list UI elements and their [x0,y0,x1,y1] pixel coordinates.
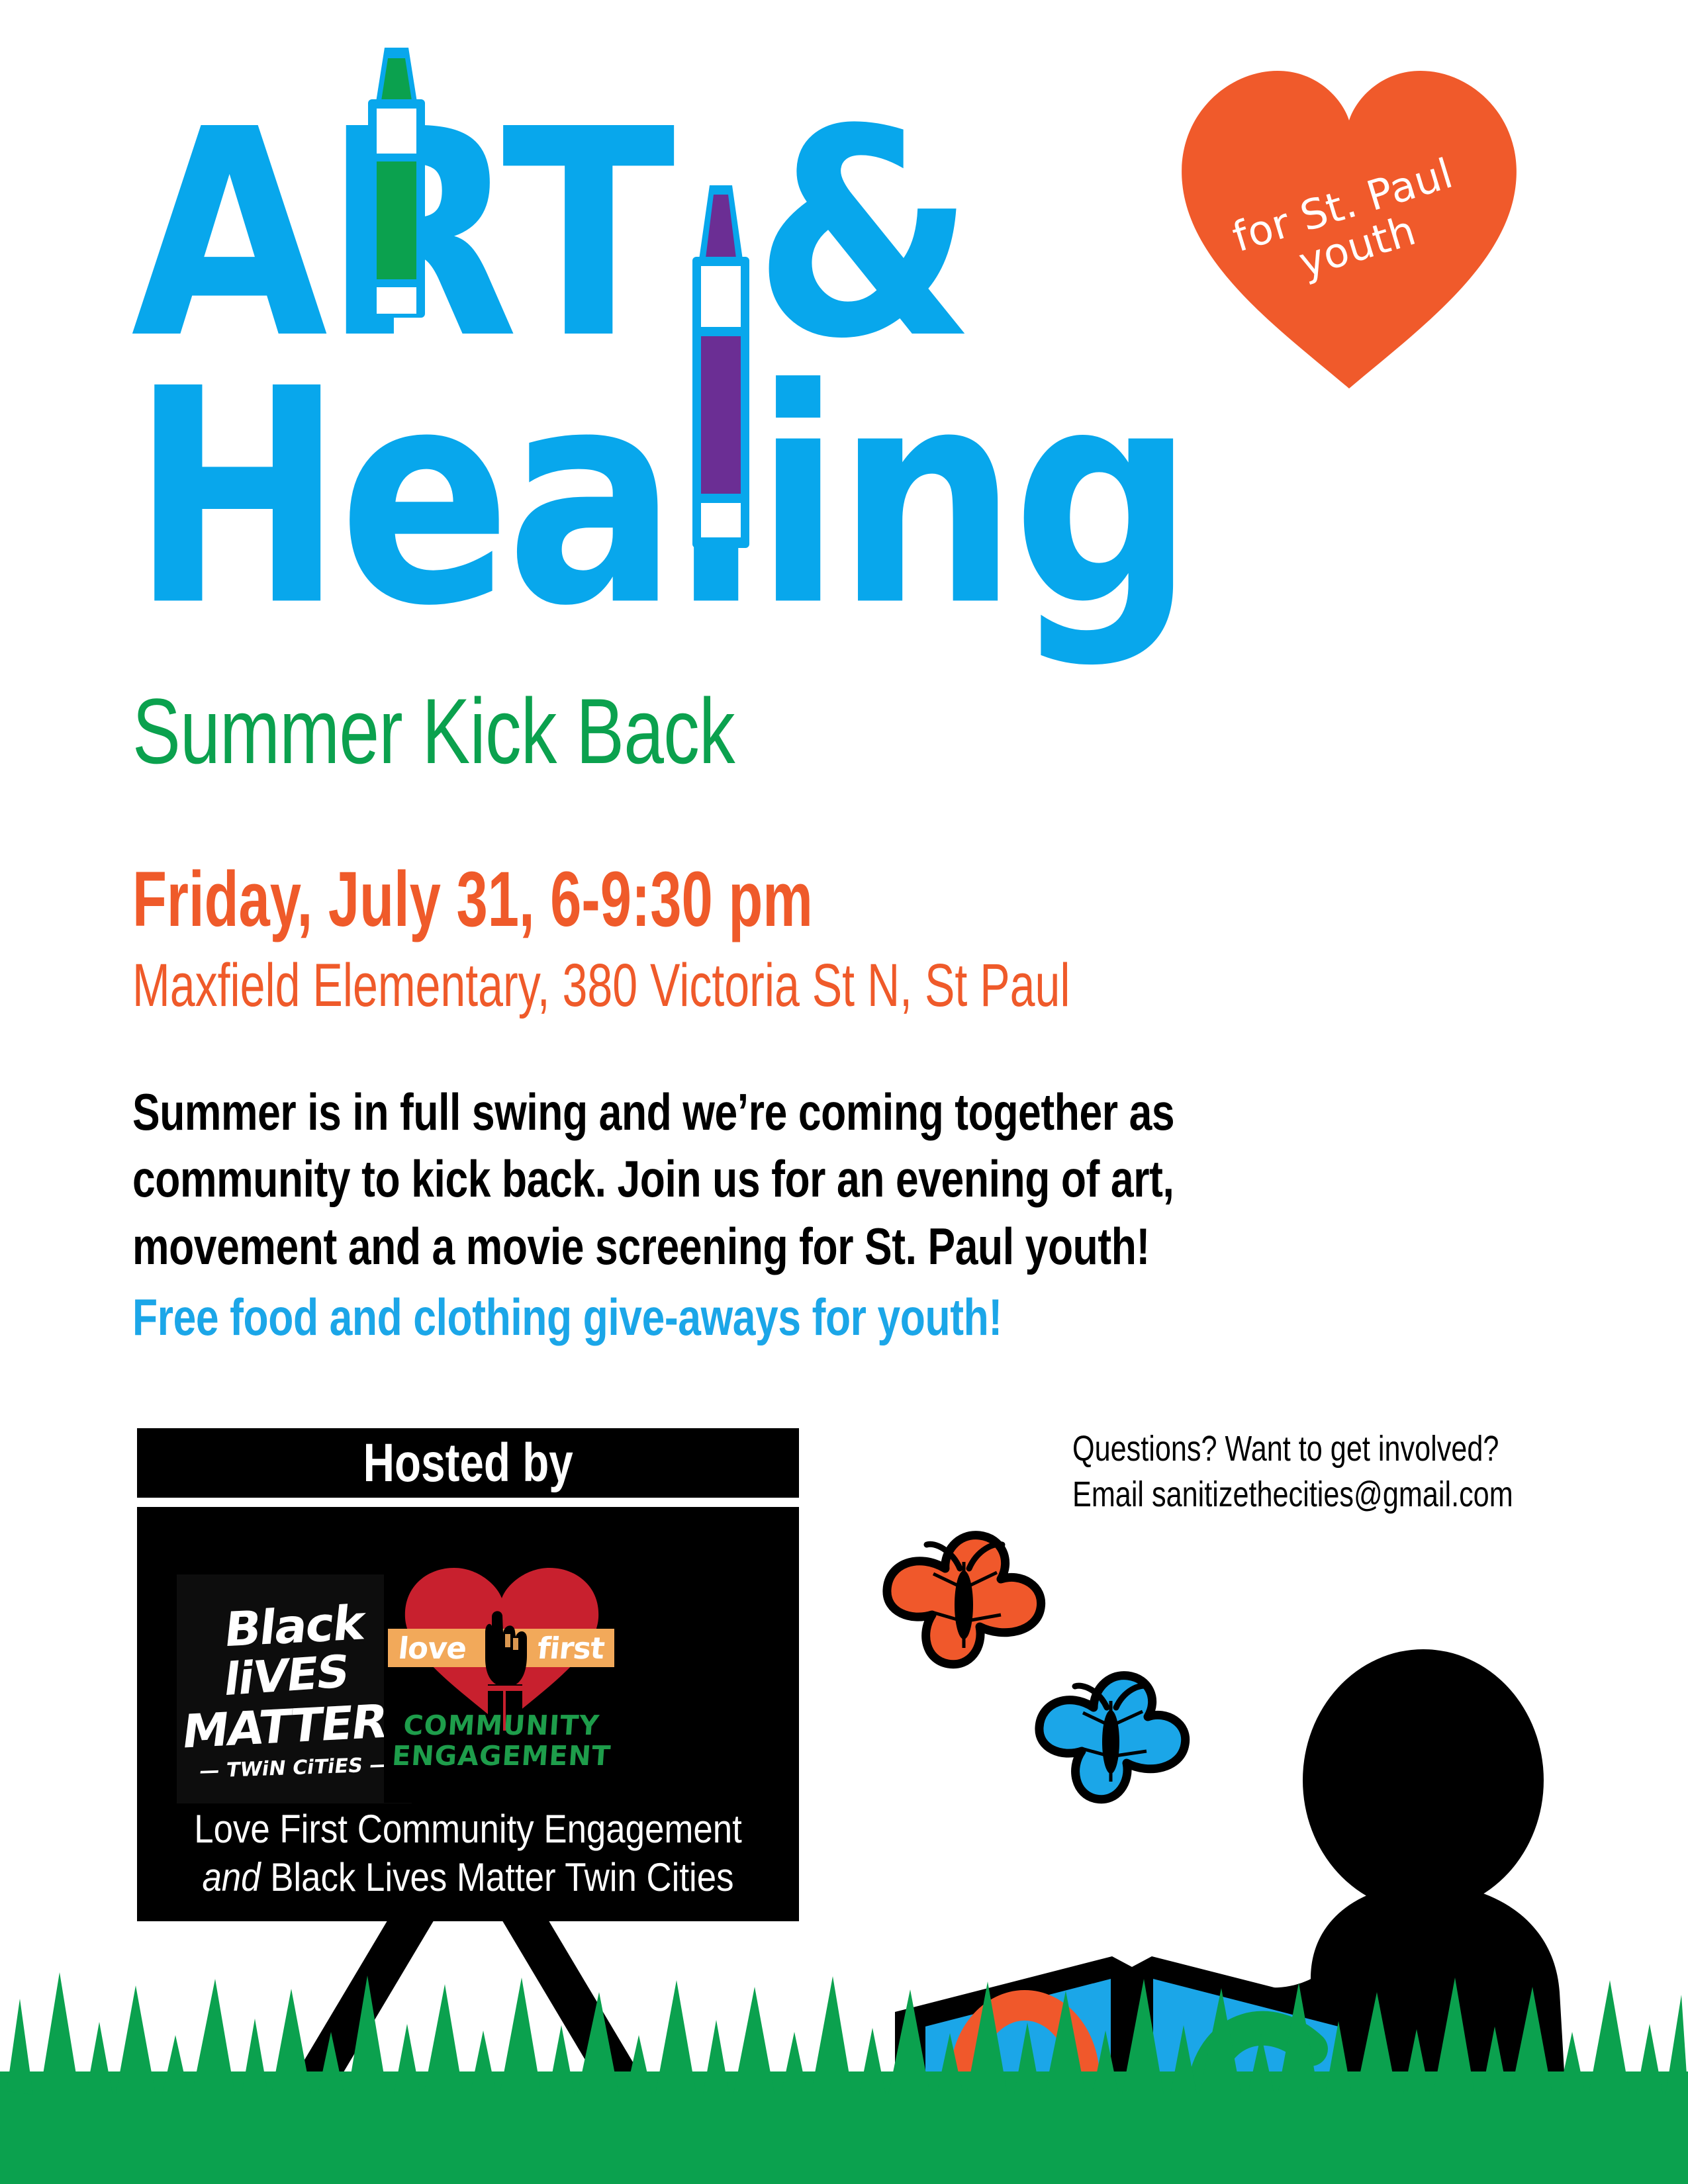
sign-header: Hosted by [137,1428,799,1498]
love-first-word-2: first [536,1633,605,1663]
logo-row: Black liVES MATTER! — TWiN CiTiES — love… [150,1523,786,1801]
sign-body: Black liVES MATTER! — TWiN CiTiES — love… [137,1507,799,1921]
event-date: Friday, July 31, 6-9:30 pm [132,860,813,938]
blm-line-3: MATTER! [179,1698,408,1754]
sign-caption-line-1: Love First Community Engagement [189,1805,748,1853]
flyer-page: for St. Paul youth ART & Healing [0,0,1688,2184]
grass-band [0,1972,1688,2184]
body-free-line: Free food and clothing give-aways for yo… [132,1284,1223,1351]
body-line-3: movement and a movie screening for St. P… [132,1213,1223,1280]
sign-caption-rest: Black Lives Matter Twin Cities [261,1855,734,1899]
love-first-tagline-2: ENGAGEMENT [383,1741,620,1772]
love-first-tagline-1: COMMUNITY [383,1711,620,1741]
contact-line-1: Questions? Want to get involved? [1072,1426,1496,1472]
blue-butterfly-icon [1039,1676,1186,1799]
love-first-logo: love first COMMUNITY ENGAGEMENT [384,1555,619,1803]
purple-crayon-icon [678,185,764,556]
love-first-word-1: love [397,1633,468,1663]
blm-line-1: Black [222,1600,366,1653]
body-line-2: community to kick back. Join us for an e… [132,1146,1223,1212]
sign-caption-line-2: and Black Lives Matter Twin Cities [189,1853,748,1901]
hosted-by-sign: Hosted by Black liVES MATTER! — TWiN CiT… [137,1428,799,1921]
sign-caption-and: and [202,1855,260,1899]
blm-line-2: liVES [222,1651,351,1702]
body-line-1: Summer is in full swing and we’re coming… [132,1079,1223,1146]
title-block: ART & Healing [131,93,1223,728]
body-copy: Summer is in full swing and we’re coming… [132,1079,1496,1351]
blm-line-4: — TWiN CiTiES — [198,1756,391,1782]
sign-caption: Love First Community Engagement and Blac… [150,1805,786,1901]
green-crayon-icon [353,48,440,332]
event-location: Maxfield Elementary, 380 Victoria St N, … [132,955,1070,1016]
love-first-tagline: COMMUNITY ENGAGEMENT [384,1711,619,1772]
subtitle: Summer Kick Back [132,685,735,778]
title-line-healing: Healing [131,351,1190,647]
orange-butterfly-icon [887,1535,1041,1664]
blm-logo: Black liVES MATTER! — TWiN CiTiES — [177,1574,412,1803]
sign-header-label: Hosted by [363,1436,573,1490]
